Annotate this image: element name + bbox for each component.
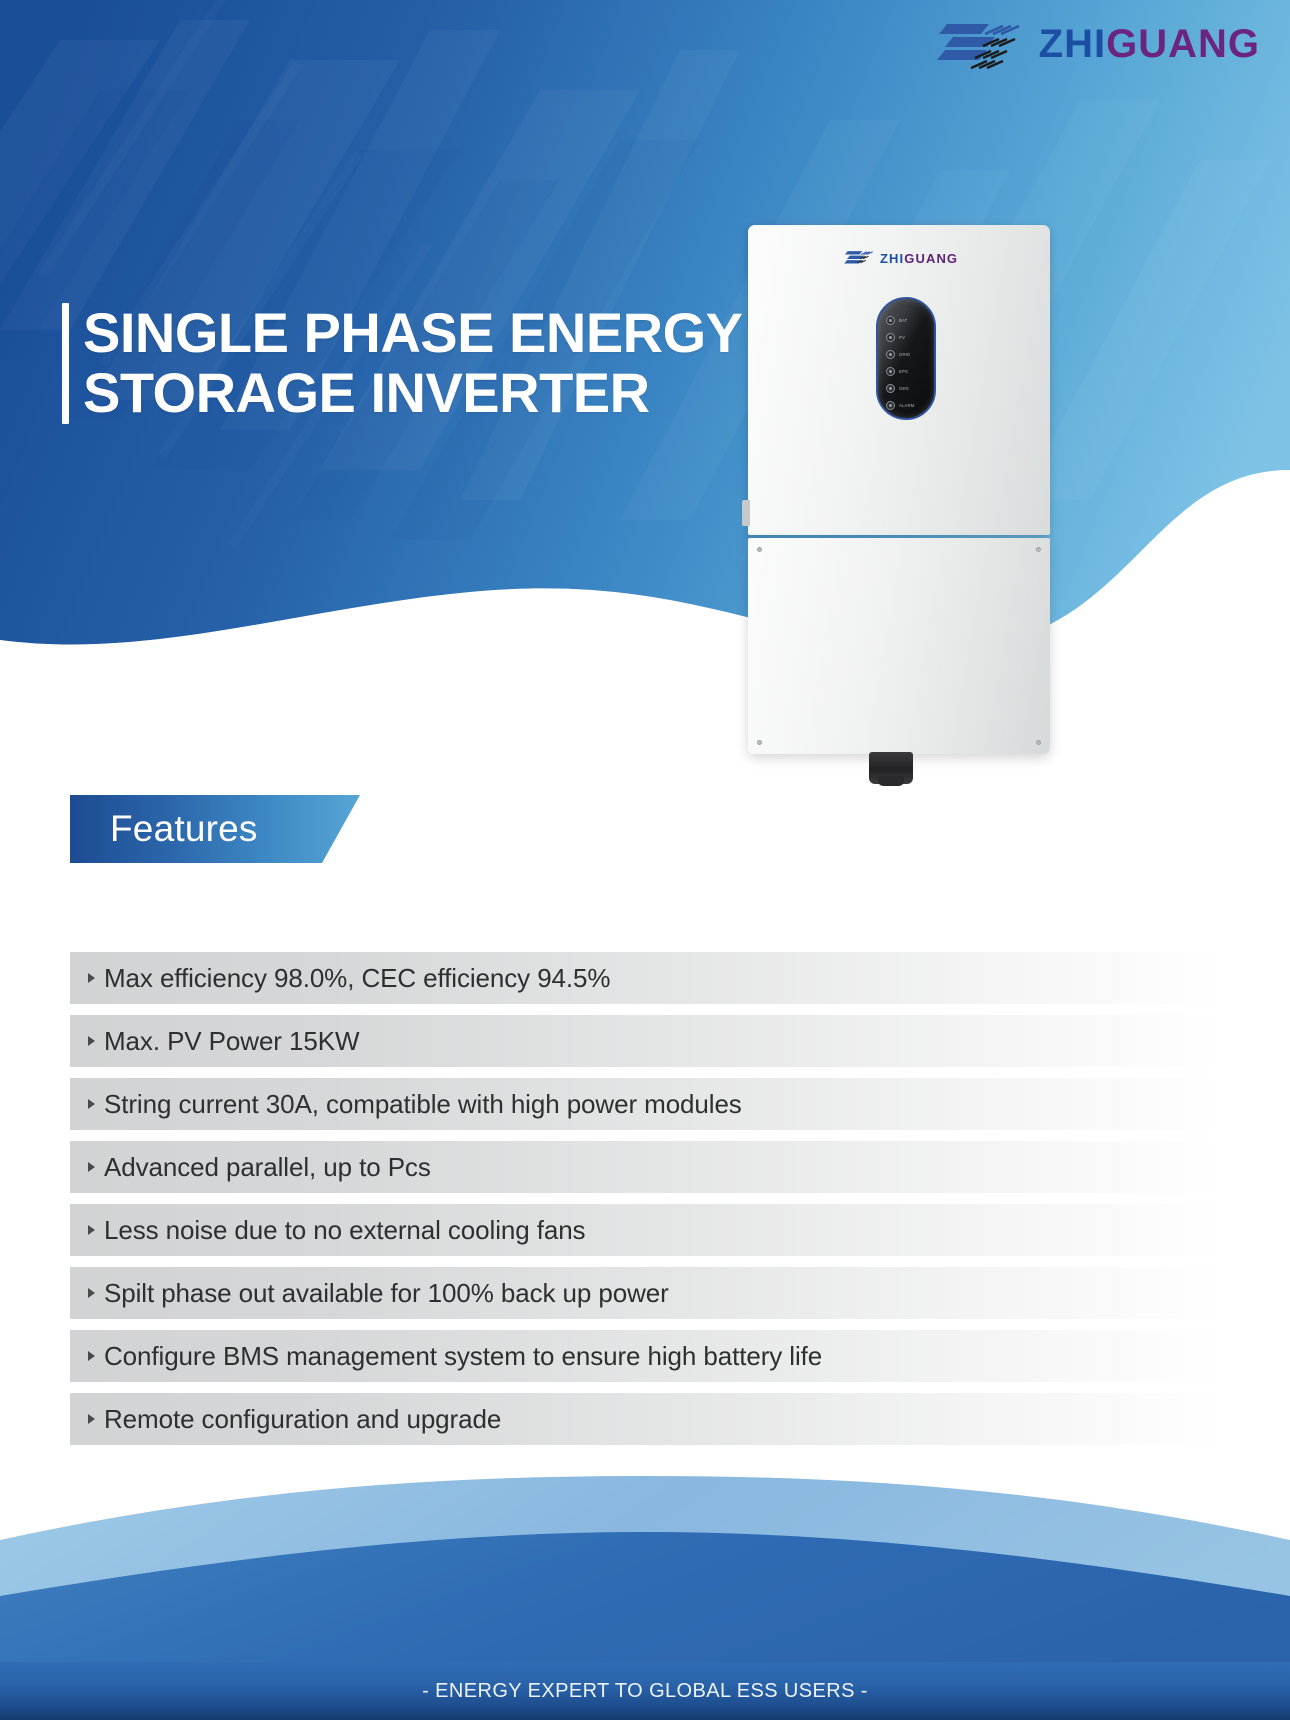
feature-item: Advanced parallel, up to Pcs bbox=[70, 1141, 1220, 1193]
product-brand-logo: ZHIGUANG bbox=[844, 249, 958, 267]
triangle-bullet-icon bbox=[78, 1414, 104, 1424]
brand-wordmark: ZHIGUANG bbox=[1039, 24, 1260, 64]
triangle-bullet-icon bbox=[78, 1162, 104, 1172]
led-indicator-row: GEN bbox=[878, 380, 934, 397]
led-label: GEN bbox=[899, 386, 909, 391]
feature-item: Max. PV Power 15KW bbox=[70, 1015, 1220, 1067]
hero-banner: ZHIGUANG SINGLE PHASE ENERGY STORAGE INV… bbox=[0, 0, 1290, 700]
led-indicator-row: GRID bbox=[878, 346, 934, 363]
page-title: SINGLE PHASE ENERGY STORAGE INVERTER bbox=[62, 303, 743, 424]
footer-tagline-bar: - ENERGY EXPERT TO GLOBAL ESS USERS - bbox=[0, 1662, 1290, 1720]
feature-item: Configure BMS management system to ensur… bbox=[70, 1330, 1220, 1382]
led-indicator-row: PV bbox=[878, 329, 934, 346]
title-line-2: STORAGE INVERTER bbox=[83, 363, 743, 423]
product-wordmark-guang: GUANG bbox=[904, 251, 958, 266]
feature-text: Advanced parallel, up to Pcs bbox=[104, 1152, 431, 1183]
footer-tagline: - ENERGY EXPERT TO GLOBAL ESS USERS - bbox=[422, 1680, 868, 1703]
product-wordmark-zhi: ZHI bbox=[880, 251, 904, 266]
features-heading-text: Features bbox=[110, 795, 340, 863]
grid-icon bbox=[886, 350, 895, 359]
alarm-icon bbox=[886, 401, 895, 410]
brand-logo: ZHIGUANG bbox=[937, 18, 1260, 70]
led-label: GRID bbox=[899, 352, 910, 357]
led-label: EPS bbox=[899, 369, 908, 374]
feature-item: Remote configuration and upgrade bbox=[70, 1393, 1220, 1445]
product-lower-housing bbox=[748, 538, 1050, 754]
product-brand-wordmark: ZHIGUANG bbox=[880, 252, 958, 265]
housing-screw bbox=[1036, 547, 1041, 552]
feature-item: Less noise due to no external cooling fa… bbox=[70, 1204, 1220, 1256]
brand-wordmark-guang: GUANG bbox=[1106, 22, 1260, 66]
feature-item: String current 30A, compatible with high… bbox=[70, 1078, 1220, 1130]
triangle-bullet-icon bbox=[78, 1225, 104, 1235]
triangle-bullet-icon bbox=[78, 1099, 104, 1109]
generator-icon bbox=[886, 384, 895, 393]
triangle-bullet-icon bbox=[78, 1036, 104, 1046]
eps-icon bbox=[886, 367, 895, 376]
title-lines: SINGLE PHASE ENERGY STORAGE INVERTER bbox=[83, 303, 743, 424]
page-footer: - ENERGY EXPERT TO GLOBAL ESS USERS - bbox=[0, 1470, 1290, 1720]
led-indicator-row: ALARM bbox=[878, 397, 934, 414]
housing-screw bbox=[757, 547, 762, 552]
features-list: Max efficiency 98.0%, CEC efficiency 94.… bbox=[70, 952, 1220, 1456]
cable-gland bbox=[869, 752, 913, 784]
feature-text: Spilt phase out available for 100% back … bbox=[104, 1278, 669, 1309]
feature-text: Configure BMS management system to ensur… bbox=[104, 1341, 822, 1372]
zhiguang-stripes-logo-icon bbox=[937, 18, 1025, 70]
led-label: PV bbox=[899, 335, 905, 340]
housing-screw bbox=[1036, 740, 1041, 745]
feature-text: Max efficiency 98.0%, CEC efficiency 94.… bbox=[104, 963, 610, 994]
triangle-bullet-icon bbox=[78, 973, 104, 983]
feature-text: String current 30A, compatible with high… bbox=[104, 1089, 742, 1120]
brand-wordmark-zhi: ZHI bbox=[1039, 22, 1106, 66]
led-indicator-row: EPS bbox=[878, 363, 934, 380]
feature-item: Max efficiency 98.0%, CEC efficiency 94.… bbox=[70, 952, 1220, 1004]
feature-text: Max. PV Power 15KW bbox=[104, 1026, 359, 1057]
triangle-bullet-icon bbox=[78, 1288, 104, 1298]
battery-icon bbox=[886, 316, 895, 325]
led-label: ALARM bbox=[899, 403, 914, 408]
product-upper-housing: ZHIGUANG BAT PV GRID EPS bbox=[748, 225, 1050, 535]
triangle-bullet-icon bbox=[78, 1351, 104, 1361]
product-image: ZHIGUANG BAT PV GRID EPS bbox=[748, 225, 1050, 773]
title-accent-bar bbox=[62, 303, 69, 424]
zhiguang-stripes-logo-icon bbox=[844, 249, 875, 267]
feature-item: Spilt phase out available for 100% back … bbox=[70, 1267, 1220, 1319]
led-status-panel: BAT PV GRID EPS GEN bbox=[876, 297, 936, 420]
feature-text: Less noise due to no external cooling fa… bbox=[104, 1215, 585, 1246]
led-label: BAT bbox=[899, 318, 907, 323]
pv-panel-icon bbox=[886, 333, 895, 342]
feature-text: Remote configuration and upgrade bbox=[104, 1404, 501, 1435]
title-line-1: SINGLE PHASE ENERGY bbox=[83, 303, 743, 363]
housing-screw bbox=[757, 740, 762, 745]
brochure-page: ZHIGUANG SINGLE PHASE ENERGY STORAGE INV… bbox=[0, 0, 1290, 1720]
features-heading-banner: Features bbox=[70, 795, 360, 863]
led-indicator-row: BAT bbox=[878, 312, 934, 329]
product-side-notch bbox=[742, 500, 750, 526]
